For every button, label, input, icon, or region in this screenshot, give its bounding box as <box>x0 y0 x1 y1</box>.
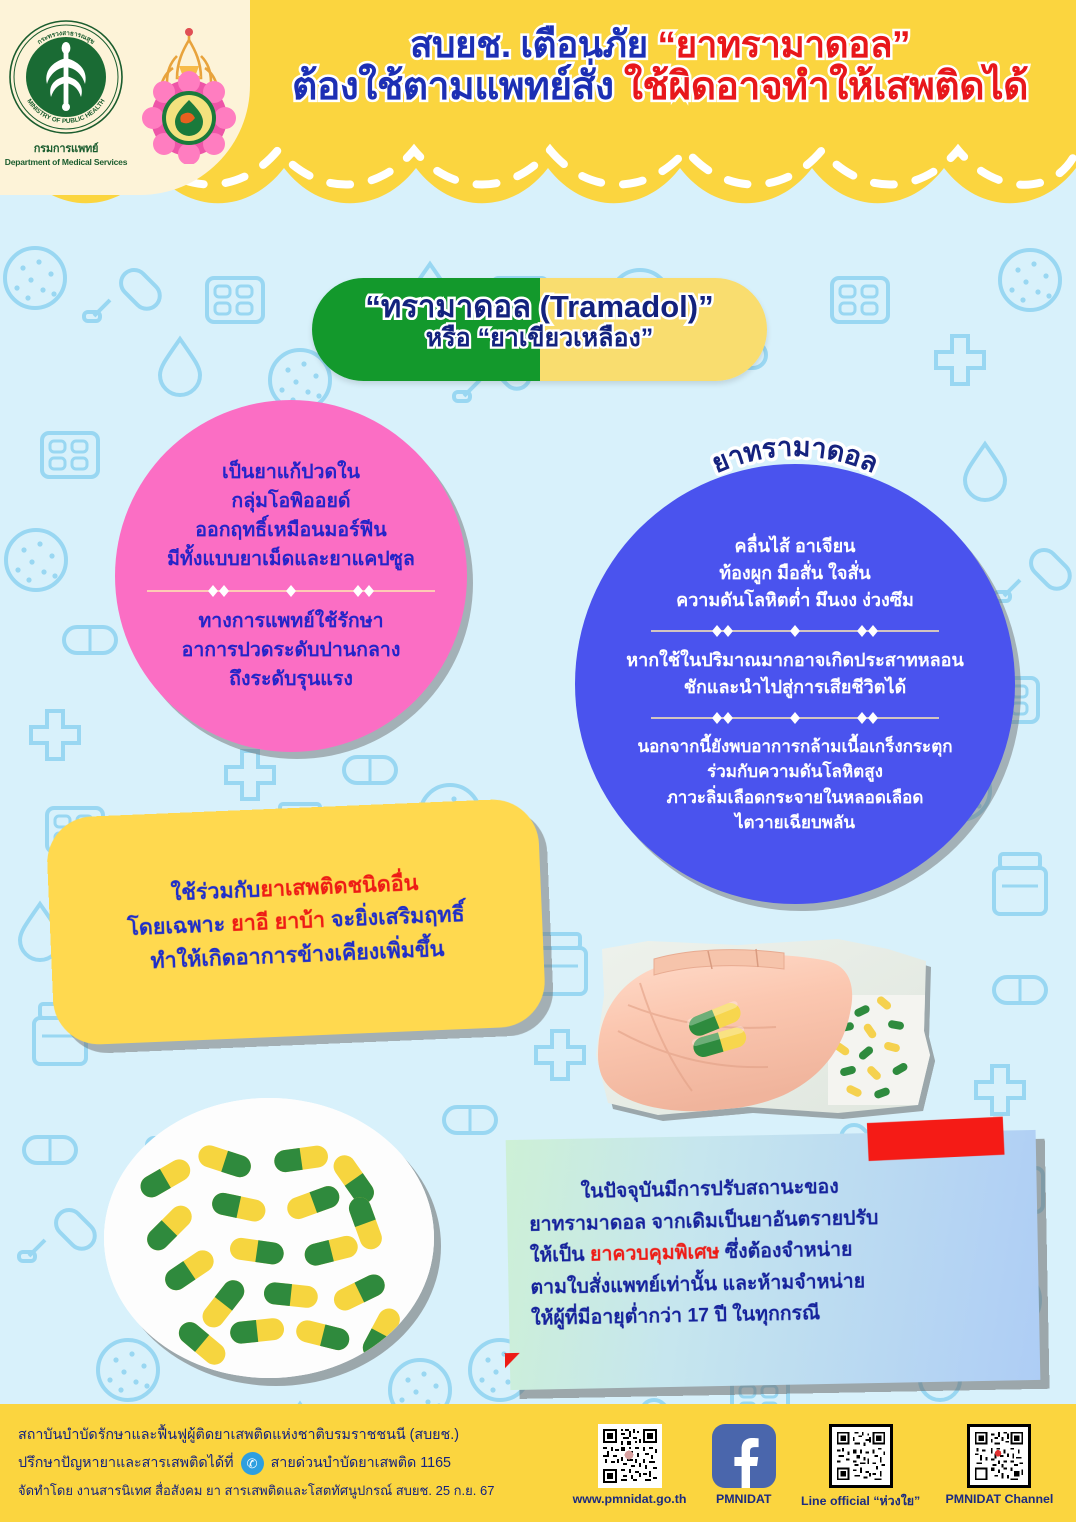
pink-info-circle: เป็นยาแก้ปวดใน กลุ่มโอพิออยด์ ออกฤทธิ์เห… <box>115 400 467 752</box>
header-title-line1-blue: สบยช. เตือนภัย <box>410 24 657 65</box>
header-title-line2-red: ใช้ผิดอาจทำให้เสพติดได้ <box>624 65 1028 108</box>
blue-divider-ornament-1 <box>645 623 945 639</box>
capsule-title-line2: หรือ “ยาเขียวเหลือง” <box>312 324 767 353</box>
footer-hotline-number: สายด่วนบำบัดยาเสพติด 1165 <box>271 1456 451 1471</box>
footer-channel-facebook[interactable]: PMNIDAT <box>712 1424 776 1506</box>
blue-line-4: หากใช้ในปริมาณมากอาจเกิดประสาทหลอน <box>626 647 964 674</box>
blue-line-3: ความดันโลหิตต่ำ มึนงง ง่วงซึม <box>676 587 914 614</box>
yellow-line-1-highlight: ยาเสพติดชนิดอื่น <box>260 871 419 902</box>
footer-org-name: สถาบันบำบัดรักษาและฟื้นฟูผู้ติดยาเสพติดแ… <box>18 1428 560 1443</box>
footer-channel-line[interactable]: Line official “ห่วงใย” <box>801 1424 920 1511</box>
footer-hotline-prefix: ปรึกษาปัญหายาและสารเสพติดได้ที่ <box>18 1456 234 1471</box>
pink-line-1: เป็นยาแก้ปวดใน <box>222 458 360 487</box>
yellow-line-2-highlight: ยาอี ยาบ้า <box>231 908 326 936</box>
footer-contact-info: สถาบันบำบัดรักษาและฟื้นฟูผู้ติดยาเสพติดแ… <box>0 1428 560 1498</box>
header-title-line1-red: “ยาทรามาดอล” <box>657 24 910 65</box>
ministry-seal-icon: กระทรวงสาธารณสุข MINISTRY OF PUBLIC HEAL… <box>7 18 125 136</box>
blue-line-9: ไตวายเฉียบพลัน <box>735 810 855 836</box>
note-line-3-c: ซึ่งต้องจำหน่าย <box>719 1239 852 1264</box>
ministry-logo-caption-en: Department of Medical Services <box>5 157 128 167</box>
blue-line-8: ภาวะลิ่มเลือดกระจายในหลอดเลือด <box>667 785 924 811</box>
footer-channel-label: www.pmnidat.go.th <box>573 1492 687 1506</box>
pink-line-2: กลุ่มโอพิออยด์ <box>231 487 350 516</box>
pink-line-5: ทางการแพทย์ใช้รักษา <box>198 607 383 636</box>
blue-line-5: ชักและนำไปสู่การเสียชีวิตได้ <box>684 674 906 701</box>
capsule-title-line1: “ทรามาดอล (Tramadol)” <box>312 289 767 324</box>
red-corner-decoration <box>505 1353 520 1368</box>
footer-channels: www.pmnidat.go.th PMNIDAT <box>560 1416 1076 1511</box>
note-line-3-highlight: ยาควบคุมพิเศษ <box>590 1241 720 1265</box>
footer-credit: จัดทำโดย งานสารนิเทศ สื่อสังคม ยา สารเสพ… <box>18 1484 560 1498</box>
blue-line-1: คลื่นไส้ อาเจียน <box>735 533 856 560</box>
footer-channel-website[interactable]: www.pmnidat.go.th <box>573 1424 687 1506</box>
legal-status-note-box: ในปัจจุบันมีการปรับสถานะของ ยาทรามาดอล จ… <box>506 1130 1041 1390</box>
blue-info-circle: คลื่นไส้ อาเจียน ท้องผูก มือสั่น ใจสั่น … <box>575 464 1015 904</box>
header-title-line1: สบยช. เตือนภัย “ยาทรามาดอล” <box>255 24 1065 65</box>
blue-side-effects-section: ผลข้างเคียงจากการใช้ ยาทรามาดอล คลื่นไส้… <box>555 408 1035 928</box>
pink-divider-ornament <box>141 583 441 599</box>
yellow-line-2-c: จะยิ่งเสริมฤทธิ์ <box>324 902 465 932</box>
logo-panel: กระทรวงสาธารณสุข MINISTRY OF PUBLIC HEAL… <box>0 0 250 195</box>
pmnidat-logo <box>133 18 245 164</box>
footer-channel-label: PMNIDAT Channel <box>946 1492 1054 1506</box>
yellow-warning-bubble: ใช้ร่วมกับยาเสพติดชนิดอื่น โดยเฉพาะ ยาอี… <box>45 798 546 1046</box>
ministry-logo-caption-th: กรมการแพทย์ <box>34 139 99 157</box>
ministry-of-public-health-logo: กระทรวงสาธารณสุข MINISTRY OF PUBLIC HEAL… <box>5 18 128 167</box>
yellow-line-1-a: ใช้ร่วมกับ <box>170 878 260 906</box>
pmnidat-lotus-crown-icon <box>133 22 245 164</box>
footer-hotline-row: ปรึกษาปัญหายาและสารเสพติดได้ที่ ✆ สายด่ว… <box>18 1452 560 1475</box>
blue-line-6: นอกจากนี้ยังพบอาการกล้ามเนื้อเกร็งกระตุก <box>637 734 952 760</box>
qr-code-icon[interactable] <box>967 1424 1031 1488</box>
pink-line-3: ออกฤทธิ์เหมือนมอร์ฟีน <box>195 516 386 545</box>
note-line-3-a: ให้เป็น <box>530 1244 591 1267</box>
header-title-line2-blue: ต้องใช้ตามแพทย์สั่ง <box>292 65 624 108</box>
blue-line-7: ร่วมกับความดันโลหิตสูง <box>707 759 883 785</box>
qr-code-icon[interactable] <box>829 1424 893 1488</box>
phone-icon: ✆ <box>241 1452 264 1475</box>
pink-line-6: อาการปวดระดับปานกลาง <box>182 636 401 665</box>
pink-line-4: มีทั้งแบบยาเม็ดและยาแคปซูล <box>167 545 415 574</box>
footer-channel-youtube[interactable]: PMNIDAT Channel <box>946 1424 1054 1506</box>
qr-code-icon[interactable] <box>598 1424 662 1488</box>
capsules-pile-photo <box>104 1098 434 1378</box>
hand-holding-capsules-photo <box>588 935 933 1125</box>
capsule-title-text: “ทรามาดอล (Tramadol)” หรือ “ยาเขียวเหลือ… <box>312 278 767 353</box>
blue-divider-ornament-2 <box>645 710 945 726</box>
blue-line-2: ท้องผูก มือสั่น ใจสั่น <box>719 560 871 587</box>
header-banner: กระทรวงสาธารณสุข MINISTRY OF PUBLIC HEAL… <box>0 0 1076 215</box>
pink-line-7: ถึงระดับรุนแรง <box>229 665 353 694</box>
red-tape-decoration <box>867 1117 1005 1161</box>
header-title-line2: ต้องใช้ตามแพทย์สั่ง ใช้ผิดอาจทำให้เสพติด… <box>255 65 1065 109</box>
header-title: สบยช. เตือนภัย “ยาทรามาดอล” ต้องใช้ตามแพ… <box>255 24 1065 109</box>
yellow-line-2-a: โดยเฉพาะ <box>127 912 232 940</box>
footer-channel-label: PMNIDAT <box>716 1492 772 1506</box>
facebook-icon[interactable] <box>712 1424 776 1488</box>
capsule-title-badge: “ทรามาดอล (Tramadol)” หรือ “ยาเขียวเหลือ… <box>312 278 767 381</box>
footer-bar: สถาบันบำบัดรักษาและฟื้นฟูผู้ติดยาเสพติดแ… <box>0 1404 1076 1522</box>
footer-channel-label: Line official “ห่วงใย” <box>801 1492 920 1511</box>
